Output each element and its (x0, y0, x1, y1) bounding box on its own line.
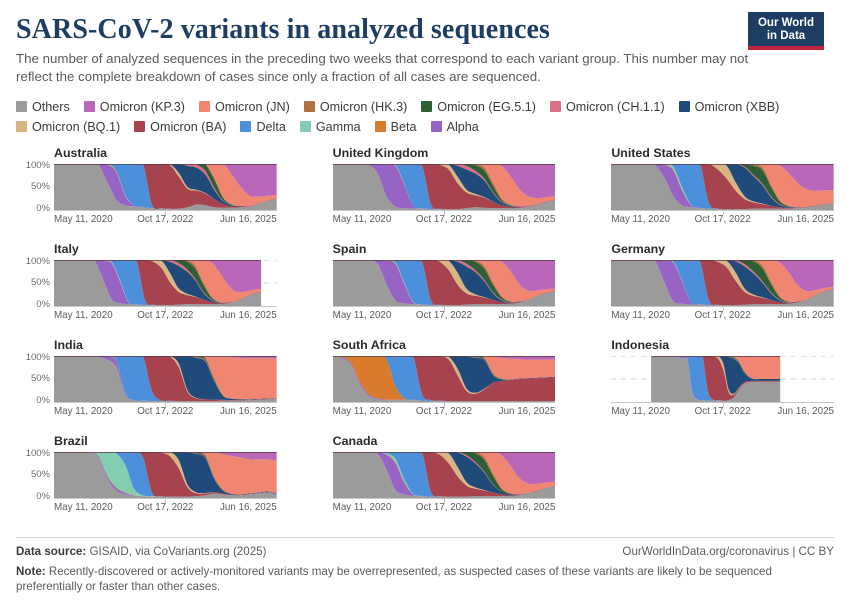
legend-swatch-icon (550, 101, 561, 112)
x-axis: May 11, 2020Oct 17, 2022Jun 16, 2025 (54, 210, 277, 227)
x-axis-tick-label: Jun 16, 2025 (220, 310, 277, 321)
x-axis-tick-label: Jun 16, 2025 (220, 502, 277, 513)
country-panel[interactable]: Australia100%50%0%May 11, 2020Oct 17, 20… (16, 146, 277, 242)
stacked-area-svg (333, 164, 556, 210)
plot-area[interactable] (611, 164, 834, 210)
small-multiples-grid: Australia100%50%0%May 11, 2020Oct 17, 20… (16, 146, 834, 530)
legend-swatch-icon (304, 101, 315, 112)
plot-wrap: 100%50%0% (54, 356, 277, 402)
plot-area[interactable] (54, 356, 277, 402)
data-source: Data source: GISAID, via CoVariants.org … (16, 545, 266, 558)
x-axis-tick-label: May 11, 2020 (333, 502, 392, 513)
y-axis-tick-label: 100% (26, 161, 50, 170)
x-axis-tick-label: Jun 16, 2025 (499, 406, 556, 417)
plot-wrap (611, 164, 834, 210)
legend-swatch-icon (240, 121, 251, 132)
legend-swatch-icon (679, 101, 690, 112)
legend-item[interactable]: Gamma (300, 118, 361, 135)
x-axis: May 11, 2020Oct 17, 2022Jun 16, 2025 (333, 498, 556, 515)
legend-swatch-icon (300, 121, 311, 132)
legend-item-label: Omicron (HK.3) (320, 100, 407, 114)
x-axis-tick-label: Jun 16, 2025 (220, 406, 277, 417)
y-axis: 100%50%0% (16, 164, 50, 210)
stacked-area-svg (333, 452, 556, 498)
x-axis-tick-label: Oct 17, 2022 (416, 310, 472, 321)
chart-note-text: Recently-discovered or actively-monitore… (16, 565, 772, 593)
plot-area[interactable] (333, 164, 556, 210)
y-axis-tick-label: 100% (26, 353, 50, 362)
x-axis: May 11, 2020Oct 17, 2022Jun 16, 2025 (611, 210, 834, 227)
x-axis-tick-label: May 11, 2020 (333, 310, 392, 321)
legend-swatch-icon (199, 101, 210, 112)
legend-swatch-icon (375, 121, 386, 132)
panel-title: United States (611, 146, 834, 160)
panel-title: United Kingdom (333, 146, 556, 160)
x-axis-tick-label: Oct 17, 2022 (137, 214, 193, 225)
legend-item-label: Omicron (KP.3) (100, 100, 185, 114)
panel-title: South Africa (333, 338, 556, 352)
legend-item-label: Gamma (316, 120, 361, 134)
stacked-area-svg (54, 164, 277, 210)
legend-item[interactable]: Omicron (CH.1.1) (550, 98, 665, 115)
owid-logo-line1: Our World (752, 17, 820, 30)
legend-item[interactable]: Omicron (XBB) (679, 98, 780, 115)
plot-wrap: 100%50%0% (54, 164, 277, 210)
stacked-area-svg (54, 260, 277, 306)
y-axis-tick-label: 50% (31, 278, 50, 287)
y-axis-tick-label: 0% (36, 204, 50, 213)
x-axis: May 11, 2020Oct 17, 2022Jun 16, 2025 (611, 306, 834, 323)
data-source-text: GISAID, via CoVariants.org (2025) (89, 545, 266, 558)
panel-title: Indonesia (611, 338, 834, 352)
y-axis: 100%50%0% (16, 452, 50, 498)
plot-area[interactable] (611, 260, 834, 306)
panel-title: Australia (54, 146, 277, 160)
x-axis: May 11, 2020Oct 17, 2022Jun 16, 2025 (333, 210, 556, 227)
x-axis-tick-label: Oct 17, 2022 (416, 214, 472, 225)
x-axis-tick-label: Jun 16, 2025 (777, 310, 834, 321)
plot-wrap (333, 164, 556, 210)
panel-title: Canada (333, 434, 556, 448)
y-axis-tick-label: 0% (36, 492, 50, 501)
legend-swatch-icon (134, 121, 145, 132)
y-axis-tick-label: 0% (36, 300, 50, 309)
y-axis-tick-label: 100% (26, 449, 50, 458)
country-panel[interactable]: IndonesiaMay 11, 2020Oct 17, 2022Jun 16,… (573, 338, 834, 434)
legend-item[interactable]: Omicron (BA) (134, 118, 226, 135)
owid-logo[interactable]: Our World in Data (748, 12, 824, 50)
stacked-area-svg (611, 260, 834, 306)
plot-wrap (333, 452, 556, 498)
country-panel[interactable]: United KingdomMay 11, 2020Oct 17, 2022Ju… (295, 146, 556, 242)
x-axis-tick-label: May 11, 2020 (54, 502, 113, 513)
x-axis-tick-label: Oct 17, 2022 (137, 502, 193, 513)
panel-title: India (54, 338, 277, 352)
plot-wrap: 100%50%0% (54, 452, 277, 498)
country-panel[interactable]: India100%50%0%May 11, 2020Oct 17, 2022Ju… (16, 338, 277, 434)
x-axis: May 11, 2020Oct 17, 2022Jun 16, 2025 (54, 402, 277, 419)
plot-wrap (611, 356, 834, 402)
plot-area[interactable] (54, 260, 277, 306)
x-axis-tick-label: Jun 16, 2025 (777, 406, 834, 417)
plot-area[interactable] (333, 260, 556, 306)
legend-swatch-icon (16, 121, 27, 132)
legend-item-label: Omicron (XBB) (695, 100, 780, 114)
legend-item-label: Others (32, 100, 70, 114)
x-axis-tick-label: Oct 17, 2022 (137, 310, 193, 321)
x-axis-tick-label: Oct 17, 2022 (695, 214, 751, 225)
y-axis-tick-label: 50% (31, 470, 50, 479)
country-panel[interactable]: United StatesMay 11, 2020Oct 17, 2022Jun… (573, 146, 834, 242)
x-axis-tick-label: May 11, 2020 (611, 406, 670, 417)
legend-item-label: Delta (256, 120, 285, 134)
y-axis-tick-label: 50% (31, 374, 50, 383)
x-axis-tick-label: Oct 17, 2022 (416, 406, 472, 417)
legend-item[interactable]: Omicron (KP.3) (84, 98, 185, 115)
plot-area[interactable] (333, 356, 556, 402)
y-axis-tick-label: 100% (26, 257, 50, 266)
country-panel[interactable]: CanadaMay 11, 2020Oct 17, 2022Jun 16, 20… (295, 434, 556, 530)
legend-item[interactable]: Beta (375, 118, 417, 135)
plot-area[interactable] (54, 452, 277, 498)
legend-item[interactable]: Omicron (JN) (199, 98, 290, 115)
x-axis: May 11, 2020Oct 17, 2022Jun 16, 2025 (54, 306, 277, 323)
chart-subtitle: The number of analyzed sequences in the … (16, 50, 761, 85)
stacked-area-svg (333, 356, 556, 402)
stacked-area-svg (54, 356, 277, 402)
plot-area[interactable] (333, 452, 556, 498)
x-axis-tick-label: May 11, 2020 (611, 214, 670, 225)
country-panel[interactable]: GermanyMay 11, 2020Oct 17, 2022Jun 16, 2… (573, 242, 834, 338)
plot-wrap: 100%50%0% (54, 260, 277, 306)
legend-item[interactable]: Alpha (431, 118, 479, 135)
country-panel[interactable]: South AfricaMay 11, 2020Oct 17, 2022Jun … (295, 338, 556, 434)
x-axis-tick-label: May 11, 2020 (54, 310, 113, 321)
x-axis: May 11, 2020Oct 17, 2022Jun 16, 2025 (54, 498, 277, 515)
plot-area[interactable] (611, 356, 834, 402)
y-axis: 100%50%0% (16, 260, 50, 306)
x-axis-tick-label: Jun 16, 2025 (499, 502, 556, 513)
x-axis-tick-label: Oct 17, 2022 (137, 406, 193, 417)
plot-wrap (333, 356, 556, 402)
panel-title: Italy (54, 242, 277, 256)
chart-legend: OthersOmicron (KP.3)Omicron (JN)Omicron … (16, 98, 834, 135)
legend-item-label: Omicron (EG.5.1) (437, 100, 536, 114)
legend-item[interactable]: Delta (240, 118, 285, 135)
x-axis-tick-label: Jun 16, 2025 (499, 214, 556, 225)
legend-item[interactable]: Omicron (EG.5.1) (421, 98, 536, 115)
legend-item-label: Omicron (CH.1.1) (566, 100, 665, 114)
x-axis-tick-label: Oct 17, 2022 (695, 406, 751, 417)
chart-header: SARS-CoV-2 variants in analyzed sequence… (16, 0, 834, 85)
owid-url-link[interactable]: OurWorldInData.org/coronavirus | CC BY (622, 545, 834, 558)
chart-note-label: Note: (16, 565, 46, 578)
data-source-label: Data source: (16, 545, 86, 558)
legend-swatch-icon (16, 101, 27, 112)
chart-footer: Data source: GISAID, via CoVariants.org … (16, 537, 834, 594)
y-axis-tick-label: 0% (36, 396, 50, 405)
x-axis-tick-label: May 11, 2020 (333, 214, 392, 225)
x-axis-tick-label: May 11, 2020 (611, 310, 670, 321)
owid-logo-line2: in Data (752, 30, 820, 43)
legend-item-label: Beta (391, 120, 417, 134)
page-title: SARS-CoV-2 variants in analyzed sequence… (16, 14, 834, 46)
legend-item-label: Omicron (JN) (215, 100, 290, 114)
x-axis-tick-label: May 11, 2020 (333, 406, 392, 417)
stacked-area-svg (333, 260, 556, 306)
stacked-area-svg (54, 452, 277, 498)
country-panel[interactable]: Brazil100%50%0%May 11, 2020Oct 17, 2022J… (16, 434, 277, 530)
x-axis: May 11, 2020Oct 17, 2022Jun 16, 2025 (333, 402, 556, 419)
legend-swatch-icon (421, 101, 432, 112)
panel-title: Spain (333, 242, 556, 256)
x-axis-tick-label: Jun 16, 2025 (777, 214, 834, 225)
y-axis: 100%50%0% (16, 356, 50, 402)
panel-title: Brazil (54, 434, 277, 448)
x-axis-tick-label: Oct 17, 2022 (695, 310, 751, 321)
plot-wrap (333, 260, 556, 306)
x-axis-tick-label: May 11, 2020 (54, 214, 113, 225)
legend-item-label: Omicron (BQ.1) (32, 120, 120, 134)
chart-page: SARS-CoV-2 variants in analyzed sequence… (0, 0, 850, 600)
chart-note: Note: Recently-discovered or actively-mo… (16, 564, 816, 594)
stacked-area-svg (611, 356, 834, 402)
country-panel[interactable]: SpainMay 11, 2020Oct 17, 2022Jun 16, 202… (295, 242, 556, 338)
x-axis-tick-label: Oct 17, 2022 (416, 502, 472, 513)
x-axis: May 11, 2020Oct 17, 2022Jun 16, 2025 (611, 402, 834, 419)
x-axis-tick-label: Jun 16, 2025 (220, 214, 277, 225)
x-axis: May 11, 2020Oct 17, 2022Jun 16, 2025 (333, 306, 556, 323)
legend-item[interactable]: Others (16, 98, 70, 115)
country-panel[interactable]: Italy100%50%0%May 11, 2020Oct 17, 2022Ju… (16, 242, 277, 338)
stacked-area-svg (611, 164, 834, 210)
y-axis-tick-label: 50% (31, 182, 50, 191)
legend-item-label: Omicron (BA) (150, 120, 226, 134)
panel-title: Germany (611, 242, 834, 256)
legend-swatch-icon (431, 121, 442, 132)
legend-item[interactable]: Omicron (HK.3) (304, 98, 407, 115)
legend-swatch-icon (84, 101, 95, 112)
plot-area[interactable] (54, 164, 277, 210)
plot-wrap (611, 260, 834, 306)
x-axis-tick-label: Jun 16, 2025 (499, 310, 556, 321)
legend-item-label: Alpha (447, 120, 479, 134)
x-axis-tick-label: May 11, 2020 (54, 406, 113, 417)
legend-item[interactable]: Omicron (BQ.1) (16, 118, 120, 135)
